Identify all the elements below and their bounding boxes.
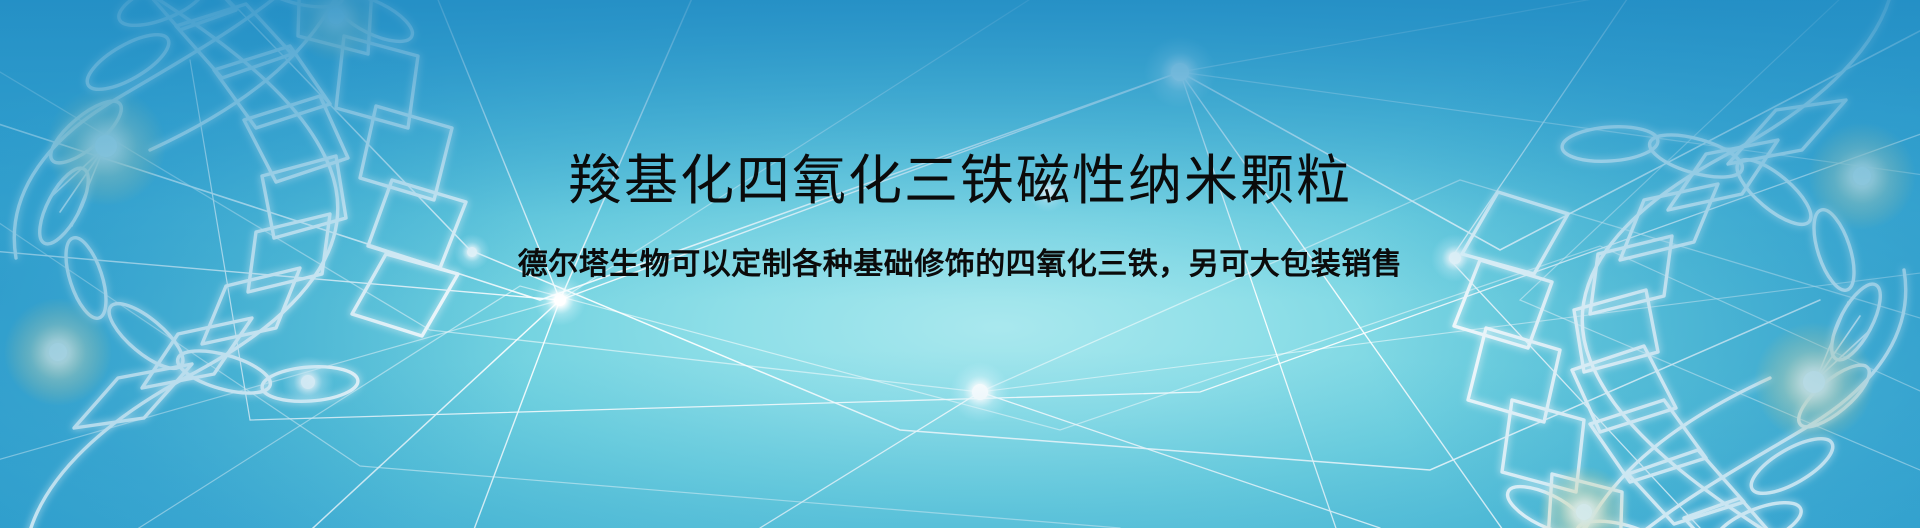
banner-title: 羧基化四氧化三铁磁性纳米颗粒 [0,150,1920,213]
banner-text-block: 羧基化四氧化三铁磁性纳米颗粒 德尔塔生物可以定制各种基础修饰的四氧化三铁，另可大… [0,150,1920,283]
page-banner: .ln { stroke:#ffffff; fill:none; stroke-… [0,0,1920,528]
banner-subtitle: 德尔塔生物可以定制各种基础修饰的四氧化三铁，另可大包装销售 [0,247,1920,283]
